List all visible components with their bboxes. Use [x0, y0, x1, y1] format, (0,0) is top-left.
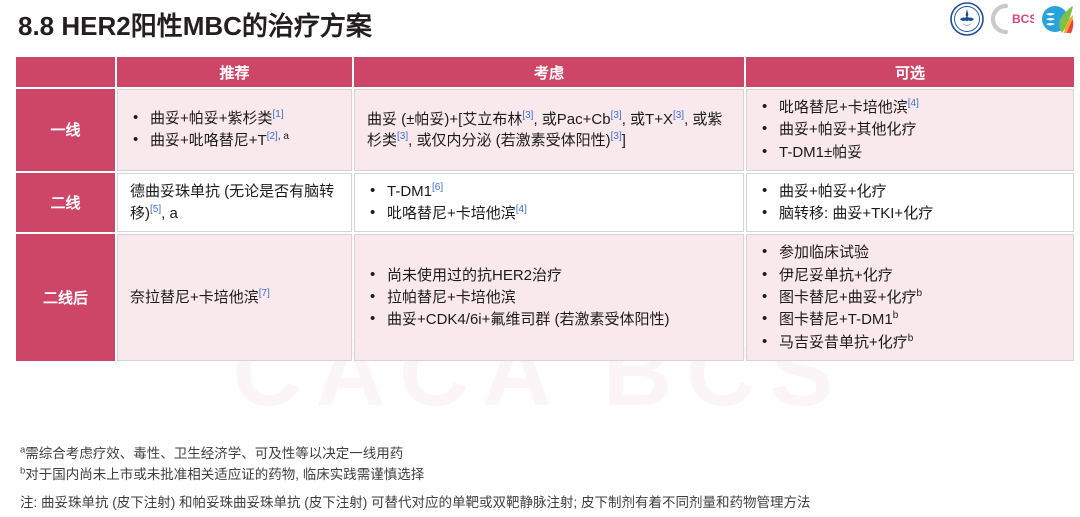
cell-optional-1: 曲妥+帕妥+化疗脑转移: 曲妥+TKI+化疗 — [746, 173, 1074, 233]
list-item: 曲妥+CDK4/6i+氟维司群 (若激素受体阳性) — [367, 309, 733, 330]
table-row: 二线后奈拉替尼+卡培他滨[7]尚未使用过的抗HER2治疗拉帕替尼+卡培他滨曲妥+… — [16, 234, 1074, 360]
item-list: 尚未使用过的抗HER2治疗拉帕替尼+卡培他滨曲妥+CDK4/6i+氟维司群 (若… — [367, 265, 733, 331]
cell-recommend-2: 奈拉替尼+卡培他滨[7] — [117, 234, 352, 360]
list-item: 图卡替尼+T-DM1b — [759, 309, 1063, 330]
table-row: 一线曲妥+帕妥+紫杉类[1]曲妥+吡咯替尼+T[2], a曲妥 (±帕妥)+[艾… — [16, 89, 1074, 171]
column-header-consider: 考虑 — [354, 57, 744, 87]
cell-recommend-0: 曲妥+帕妥+紫杉类[1]曲妥+吡咯替尼+T[2], a — [117, 89, 352, 171]
list-item: 伊尼妥单抗+化疗 — [759, 265, 1063, 286]
treatment-table: 推荐 考虑 可选 一线曲妥+帕妥+紫杉类[1]曲妥+吡咯替尼+T[2], a曲妥… — [14, 55, 1076, 363]
logo-group: BCS — [950, 2, 1074, 36]
page-title: 8.8 HER2阳性MBC的治疗方案 — [18, 6, 372, 43]
list-item: 图卡替尼+曲妥+化疗b — [759, 287, 1063, 308]
list-item: 尚未使用过的抗HER2治疗 — [367, 265, 733, 286]
list-item: T-DM1[6] — [367, 181, 733, 202]
column-header-recommend: 推荐 — [117, 57, 352, 87]
table-header: 推荐 考虑 可选 — [16, 57, 1074, 87]
footnote-b: b对于国内尚未上市或未批准相关适应证的药物, 临床实践需谨慎选择 — [20, 465, 1070, 486]
item-list: 参加临床试验伊尼妥单抗+化疗图卡替尼+曲妥+化疗b图卡替尼+T-DM1b马吉妥昔… — [759, 242, 1063, 352]
column-header-optional: 可选 — [746, 57, 1074, 87]
cell-recommend-1: 德曲妥珠单抗 (无论是否有脑转移)[5], a — [117, 173, 352, 233]
cell-consider-1: T-DM1[6]吡咯替尼+卡培他滨[4] — [354, 173, 744, 233]
cell-consider-2: 尚未使用过的抗HER2治疗拉帕替尼+卡培他滨曲妥+CDK4/6i+氟维司群 (若… — [354, 234, 744, 360]
footnotes: a需综合考虑疗效、毒性、卫生经济学、可及性等以决定一线用药 b对于国内尚未上市或… — [20, 444, 1070, 514]
treatment-table-wrap: 推荐 考虑 可选 一线曲妥+帕妥+紫杉类[1]曲妥+吡咯替尼+T[2], a曲妥… — [14, 55, 1068, 363]
cell-consider-0: 曲妥 (±帕妥)+[艾立布林[3], 或Pac+Cb[3], 或T+X[3], … — [354, 89, 744, 171]
footnote-note: 注: 曲妥珠单抗 (皮下注射) 和帕妥珠曲妥珠单抗 (皮下注射) 可替代对应的单… — [20, 493, 1070, 514]
list-item: 参加临床试验 — [759, 242, 1063, 263]
cell-optional-0: 吡咯替尼+卡培他滨[4]曲妥+帕妥+其他化疗T-DM1±帕妥 — [746, 89, 1074, 171]
list-item: 吡咯替尼+卡培他滨[4] — [367, 203, 733, 224]
caca-wave-logo — [1040, 2, 1074, 36]
list-item: 曲妥+帕妥+其他化疗 — [759, 119, 1063, 140]
cell-paragraph: 德曲妥珠单抗 (无论是否有脑转移)[5], a — [130, 181, 341, 224]
footnote-b-text: 对于国内尚未上市或未批准相关适应证的药物, 临床实践需谨慎选择 — [25, 467, 424, 482]
item-list: T-DM1[6]吡咯替尼+卡培他滨[4] — [367, 181, 733, 225]
list-item: 马吉妥昔单抗+化疗b — [759, 332, 1063, 353]
list-item: 拉帕替尼+卡培他滨 — [367, 287, 733, 308]
list-item: 脑转移: 曲妥+TKI+化疗 — [759, 203, 1063, 224]
footnote-a: a需综合考虑疗效、毒性、卫生经济学、可及性等以决定一线用药 — [20, 444, 1070, 465]
list-item: 曲妥+吡咯替尼+T[2], a — [130, 130, 341, 151]
item-list: 吡咯替尼+卡培他滨[4]曲妥+帕妥+其他化疗T-DM1±帕妥 — [759, 97, 1063, 163]
row-label-1: 二线 — [16, 173, 115, 233]
list-item: 曲妥+帕妥+紫杉类[1] — [130, 108, 341, 129]
cell-paragraph: 奈拉替尼+卡培他滨[7] — [130, 287, 341, 308]
list-item: T-DM1±帕妥 — [759, 142, 1063, 163]
column-header-line — [16, 57, 115, 87]
cell-optional-2: 参加临床试验伊尼妥单抗+化疗图卡替尼+曲妥+化疗b图卡替尼+T-DM1b马吉妥昔… — [746, 234, 1074, 360]
csco-emblem-logo — [950, 2, 984, 36]
table-header-row: 推荐 考虑 可选 — [16, 57, 1074, 87]
cell-paragraph: 曲妥 (±帕妥)+[艾立布林[3], 或Pac+Cb[3], 或T+X[3], … — [367, 109, 733, 152]
table-body: 一线曲妥+帕妥+紫杉类[1]曲妥+吡咯替尼+T[2], a曲妥 (±帕妥)+[艾… — [16, 89, 1074, 361]
bcs-logo: BCS — [990, 2, 1034, 36]
footnote-a-text: 需综合考虑疗效、毒性、卫生经济学、可及性等以决定一线用药 — [25, 446, 403, 461]
list-item: 曲妥+帕妥+化疗 — [759, 181, 1063, 202]
slide-root: CACA BCS 8.8 HER2阳性MBC的治疗方案 BCS — [0, 0, 1080, 517]
list-item: 吡咯替尼+卡培他滨[4] — [759, 97, 1063, 118]
item-list: 曲妥+帕妥+化疗脑转移: 曲妥+TKI+化疗 — [759, 181, 1063, 225]
svg-text:BCS: BCS — [1012, 12, 1034, 26]
table-row: 二线德曲妥珠单抗 (无论是否有脑转移)[5], aT-DM1[6]吡咯替尼+卡培… — [16, 173, 1074, 233]
row-label-2: 二线后 — [16, 234, 115, 360]
row-label-0: 一线 — [16, 89, 115, 171]
item-list: 曲妥+帕妥+紫杉类[1]曲妥+吡咯替尼+T[2], a — [130, 108, 341, 152]
